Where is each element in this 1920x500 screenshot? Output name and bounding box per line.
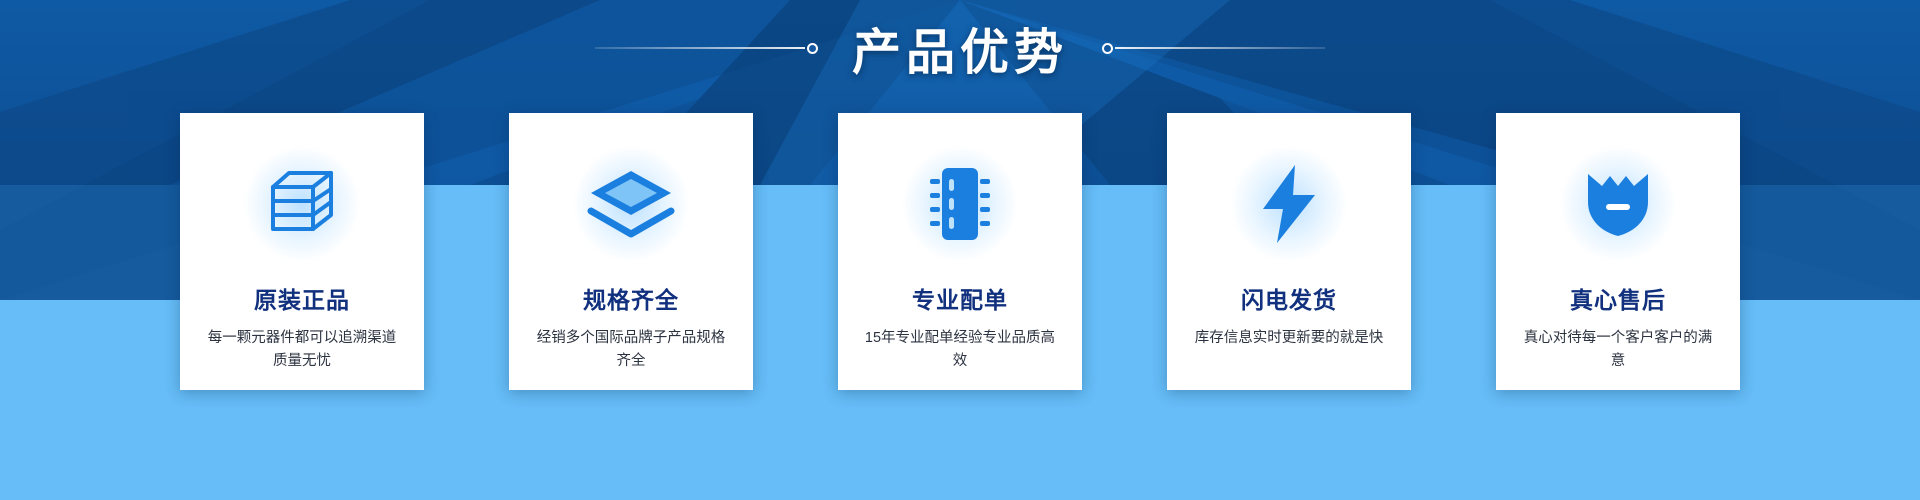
layers-stack-icon bbox=[572, 149, 690, 259]
feature-card-title: 真心售后 bbox=[1570, 289, 1666, 312]
header-right-decoration bbox=[1100, 43, 1325, 54]
feature-card[interactable]: 专业配单 15年专业配单经验专业品质高效 bbox=[838, 113, 1082, 390]
decoration-dot-left bbox=[807, 43, 818, 54]
feature-card-desc: 真心对待每一个客户客户的满意 bbox=[1520, 327, 1716, 374]
decoration-dot-right bbox=[1102, 43, 1113, 54]
decoration-line-right bbox=[1115, 47, 1325, 49]
lightning-bolt-icon bbox=[1230, 149, 1348, 259]
section-header: 产品优势 bbox=[0, 0, 1920, 96]
feature-card-desc: 15年专业配单经验专业品质高效 bbox=[862, 327, 1058, 374]
decoration-line-left bbox=[595, 47, 805, 49]
feature-card-desc: 经销多个国际品牌子产品规格齐全 bbox=[533, 327, 729, 374]
feature-card-title: 规格齐全 bbox=[583, 289, 679, 312]
feature-card[interactable]: 规格齐全 经销多个国际品牌子产品规格齐全 bbox=[509, 113, 753, 390]
cube-box-icon bbox=[243, 149, 361, 259]
feature-card-list: 原装正品 每一颗元器件都可以追溯渠道 质量无忧 规格齐全 经销多个国际品牌子产品… bbox=[180, 113, 1740, 390]
feature-card[interactable]: 真心售后 真心对待每一个客户客户的满意 bbox=[1496, 113, 1740, 390]
feature-card-title: 专业配单 bbox=[912, 289, 1008, 312]
header-left-decoration bbox=[595, 43, 820, 54]
feature-card-desc: 每一颗元器件都可以追溯渠道 质量无忧 bbox=[204, 327, 400, 374]
page-title: 产品优势 bbox=[836, 13, 1084, 84]
feature-card-desc: 库存信息实时更新要的就是快 bbox=[1191, 327, 1387, 350]
chip-ic-icon bbox=[901, 149, 1019, 259]
shield-helmet-icon bbox=[1559, 149, 1677, 259]
feature-card[interactable]: 原装正品 每一颗元器件都可以追溯渠道 质量无忧 bbox=[180, 113, 424, 390]
feature-card-title: 闪电发货 bbox=[1241, 289, 1337, 312]
feature-card-title: 原装正品 bbox=[254, 289, 350, 312]
feature-card[interactable]: 闪电发货 库存信息实时更新要的就是快 bbox=[1167, 113, 1411, 390]
